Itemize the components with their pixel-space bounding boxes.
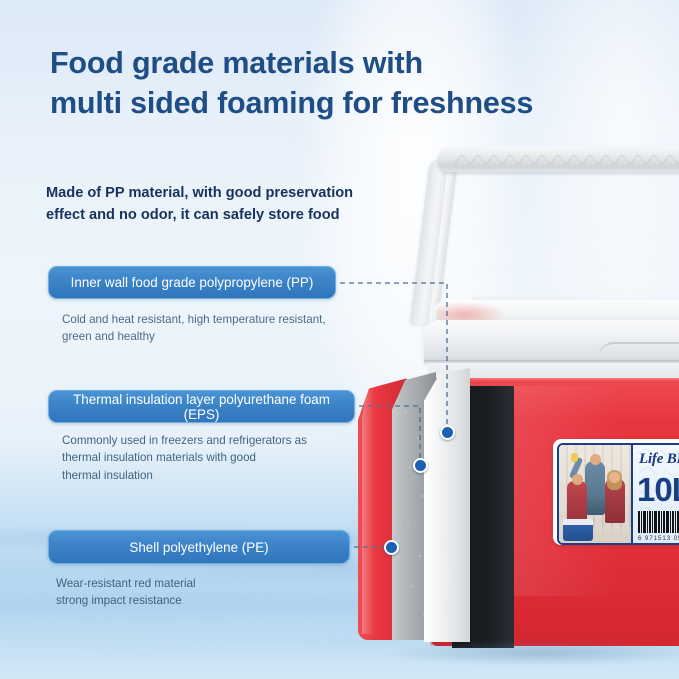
callout-desc-insulation: Commonly used in freezers and refrigerat… [62, 432, 324, 484]
connector-line-insulation [359, 406, 420, 458]
page-subtitle: Made of PP material, with good preservat… [46, 182, 446, 226]
desc-line: Wear-resistant red material [56, 575, 316, 592]
callout-pill-inner-wall[interactable]: Inner wall food grade polypropylene (PP) [48, 266, 336, 299]
subtitle-line-2: effect and no odor, it can safely store … [46, 204, 446, 226]
marker-dot-insulation[interactable] [413, 458, 428, 473]
marker-dot-inner-wall[interactable] [440, 425, 455, 440]
desc-line: thermal insulation materials with good [62, 449, 324, 466]
desc-line: Cold and heat resistant, high temperatur… [62, 311, 332, 328]
subtitle-line-1: Made of PP material, with good preservat… [46, 185, 353, 201]
page-headline: Food grade materials with multi sided fo… [50, 44, 610, 123]
infographic-canvas: Life BRO 10L 6 971513 054026 [0, 0, 679, 679]
callout-label-inner-wall: Inner wall food grade polypropylene (PP) [63, 275, 321, 290]
marker-dot-shell[interactable] [384, 540, 399, 555]
callout-label-insulation: Thermal insulation layer polyurethane fo… [61, 392, 342, 422]
callout-pill-insulation[interactable]: Thermal insulation layer polyurethane fo… [48, 390, 355, 423]
callout-pill-shell[interactable]: Shell polyethylene (PE) [48, 530, 350, 564]
desc-line: Commonly used in freezers and refrigerat… [62, 432, 324, 449]
connector-line-inner-wall [340, 283, 447, 425]
desc-line: strong impact resistance [56, 592, 316, 609]
callout-desc-shell: Wear-resistant red material strong impac… [56, 575, 316, 610]
callout-desc-inner-wall: Cold and heat resistant, high temperatur… [62, 311, 332, 346]
desc-line: thermal insulation [62, 467, 324, 484]
desc-line: green and healthy [62, 328, 332, 345]
headline-line-1: Food grade materials with [50, 46, 423, 80]
callout-label-shell: Shell polyethylene (PE) [61, 540, 337, 555]
headline-line-2: multi sided foaming for freshness [50, 84, 610, 124]
